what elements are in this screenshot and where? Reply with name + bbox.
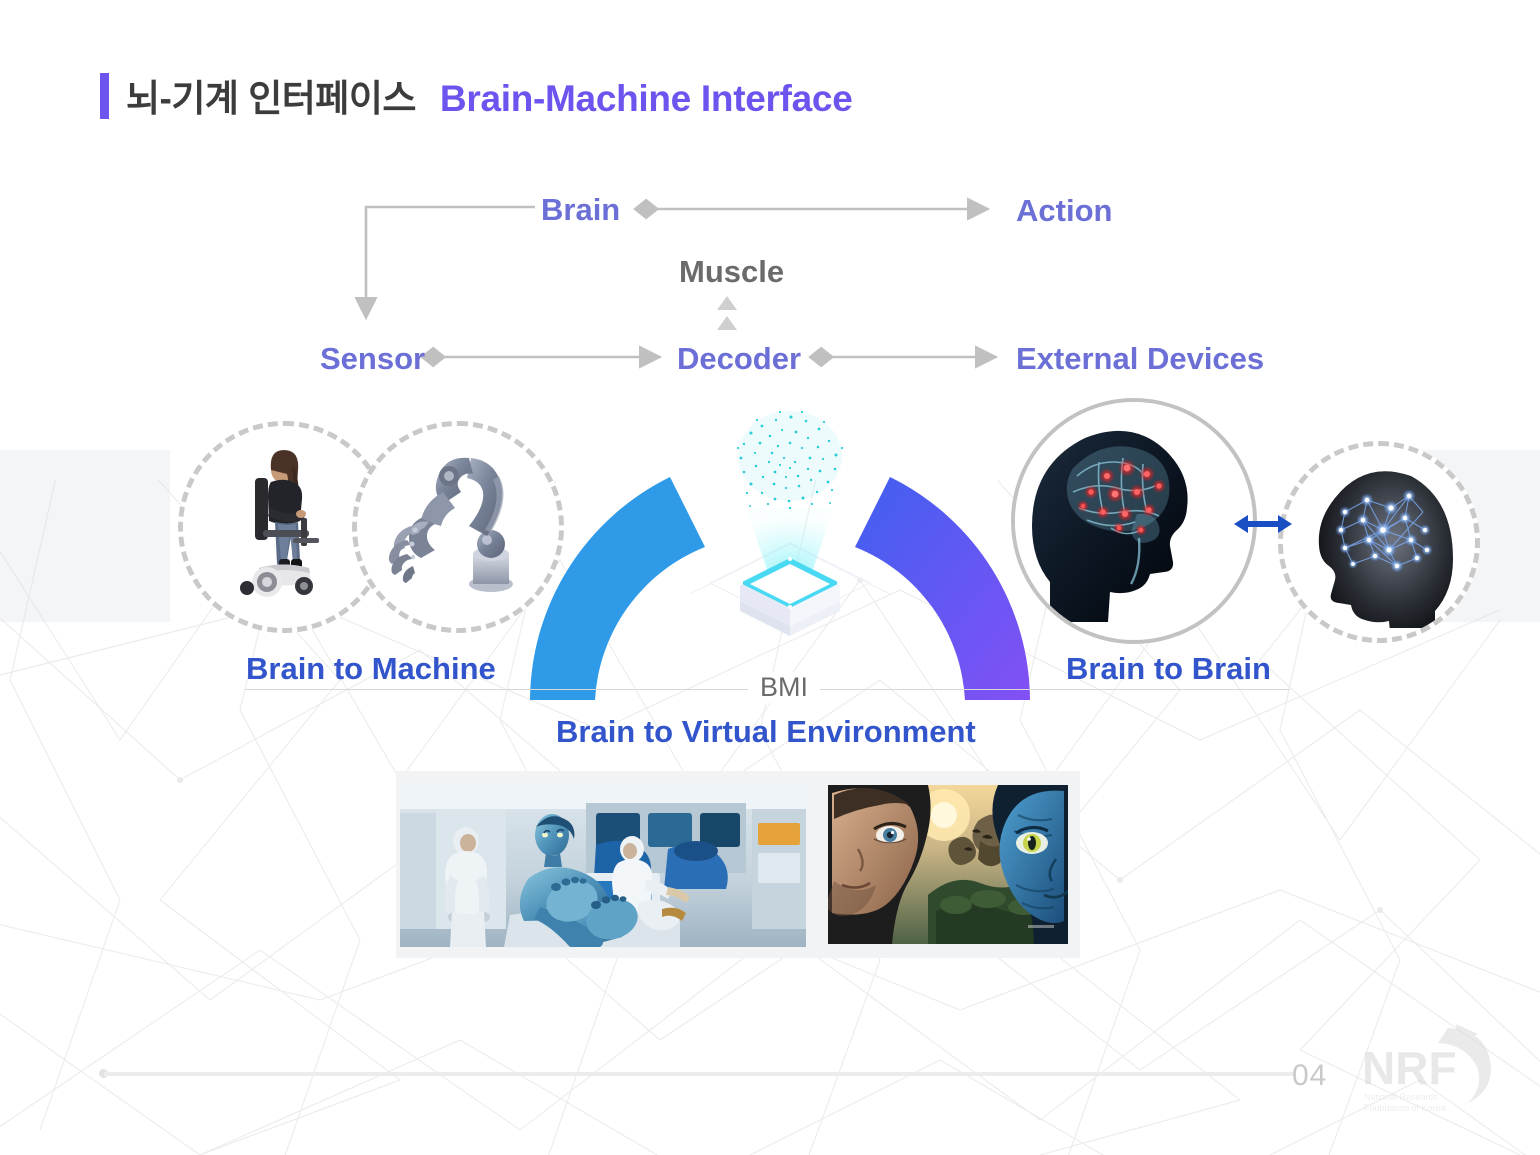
nrf-logo-subtitle-2: Foundation of Korea bbox=[1364, 1103, 1446, 1113]
caption-brain-to-virtual-environment: Brain to Virtual Environment bbox=[556, 714, 976, 750]
slide-canvas: 뇌-기계 인터페이스 Brain-Machine Interface bbox=[0, 0, 1540, 1155]
bubble-robot-arm bbox=[352, 421, 564, 633]
page-number: 04 bbox=[1292, 1059, 1327, 1093]
nrf-logo-subtitle-1: National Research bbox=[1364, 1092, 1438, 1102]
film-still-avatar-lab bbox=[400, 783, 806, 947]
bubble-head-blue-brain bbox=[1278, 441, 1480, 643]
hologram-brain-projector bbox=[690, 398, 890, 648]
flow-node-decoder: Decoder bbox=[677, 341, 801, 377]
head-red-brain-icon bbox=[1015, 402, 1245, 632]
robot-arm-icon bbox=[357, 426, 547, 616]
title-korean: 뇌-기계 인터페이스 bbox=[126, 68, 416, 122]
caption-brain-to-machine: Brain to Machine bbox=[246, 651, 496, 687]
film-stills-panel bbox=[396, 771, 1080, 958]
nrf-logo: NRF National Research Foundation of Kore… bbox=[1352, 1022, 1502, 1130]
nrf-logo-text: NRF bbox=[1362, 1042, 1457, 1094]
slide-title: 뇌-기계 인터페이스 Brain-Machine Interface bbox=[100, 68, 852, 122]
footer-divider-line bbox=[104, 1072, 1294, 1076]
avatar-poster-image bbox=[828, 785, 1068, 944]
caption-brain-to-brain: Brain to Brain bbox=[1066, 651, 1271, 687]
brain-to-brain-double-arrow bbox=[1232, 500, 1294, 548]
flow-node-action: Action bbox=[1016, 193, 1112, 229]
film-still-avatar-poster bbox=[828, 785, 1068, 944]
bmi-center-label: BMI bbox=[748, 672, 820, 703]
flow-node-brain: Brain bbox=[541, 192, 620, 228]
avatar-lab-scene-image bbox=[400, 783, 806, 947]
title-accent-bar bbox=[100, 73, 109, 119]
flow-node-external-devices: External Devices bbox=[1016, 341, 1264, 377]
flow-node-sensor: Sensor bbox=[320, 341, 425, 377]
bubble-head-red-brain bbox=[1011, 398, 1257, 644]
flow-node-muscle: Muscle bbox=[679, 254, 784, 290]
title-english: Brain-Machine Interface bbox=[440, 78, 853, 120]
wheelchair-icon bbox=[183, 426, 373, 616]
head-blue-neural-icon bbox=[1283, 446, 1465, 628]
